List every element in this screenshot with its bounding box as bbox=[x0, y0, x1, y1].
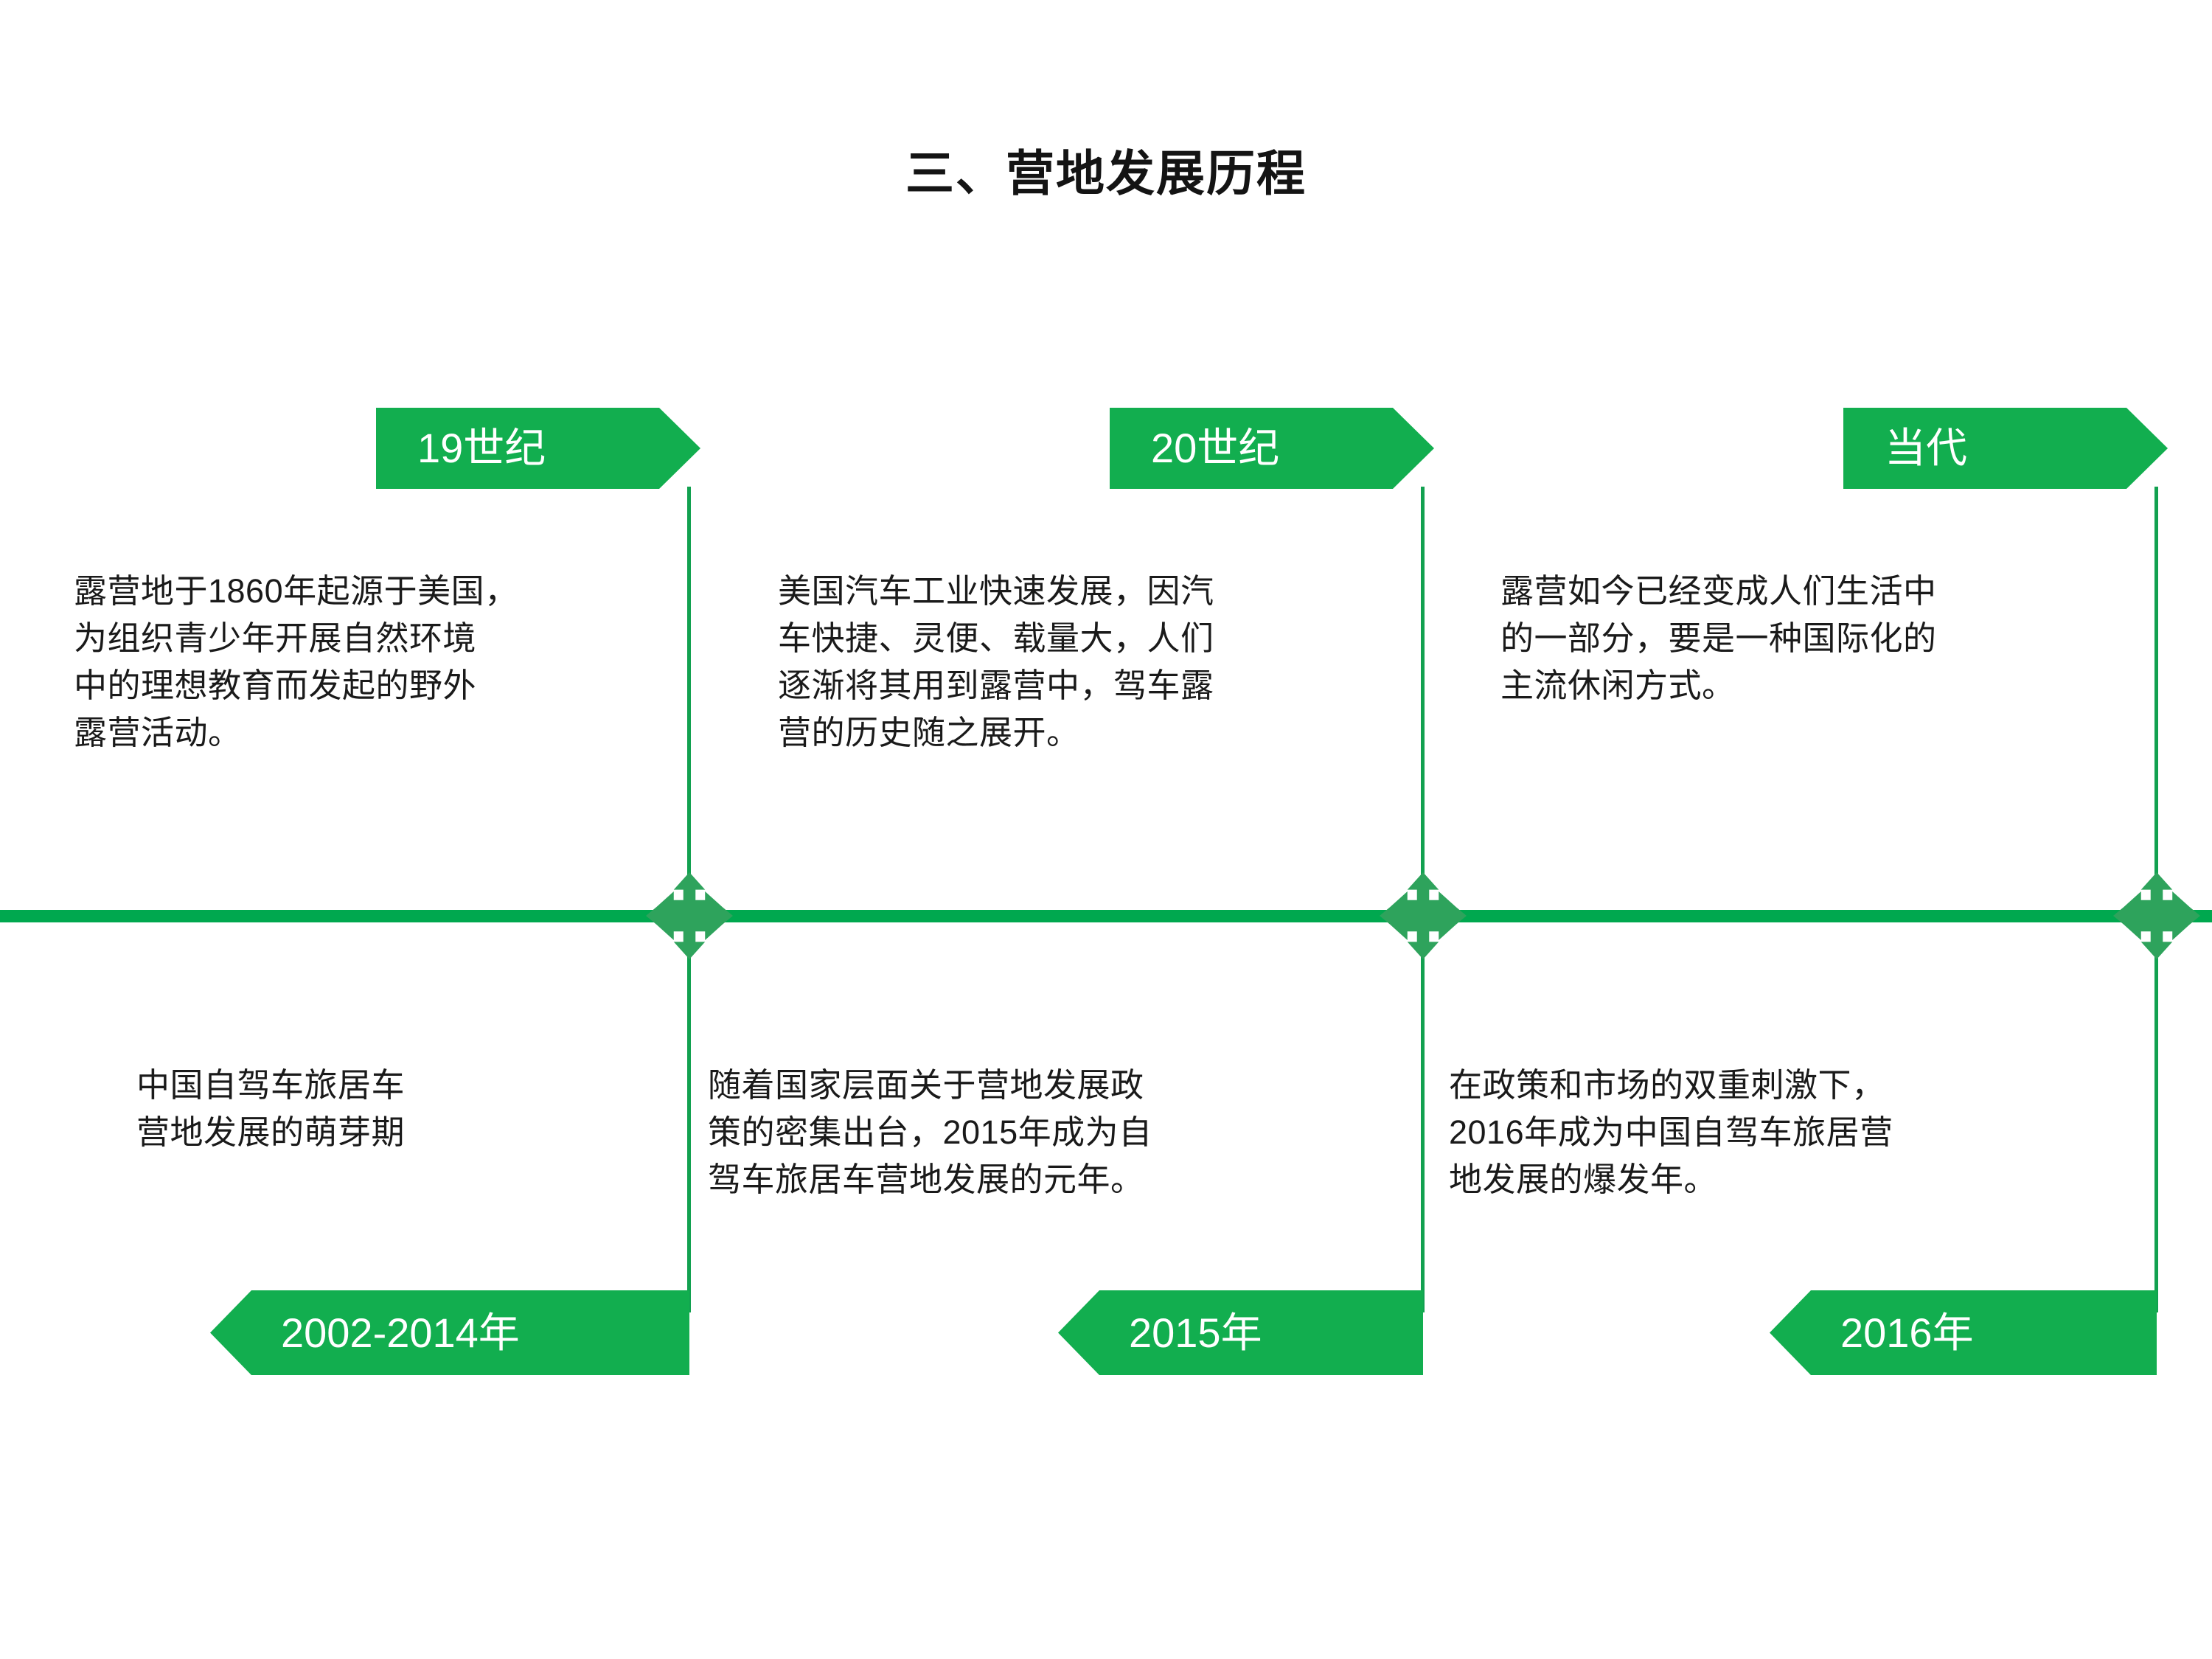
four-way-arrow-icon bbox=[2113, 872, 2200, 959]
connector-above-1 bbox=[687, 487, 691, 922]
connector-below-2 bbox=[1421, 914, 1425, 1312]
milestone-label-above-1[interactable]: 19世纪 bbox=[376, 408, 700, 489]
connector-below-3 bbox=[2154, 914, 2158, 1312]
milestone-label-below-1-text: 2002-2014年 bbox=[281, 1312, 520, 1354]
milestone-label-below-1[interactable]: 2002-2014年 bbox=[210, 1290, 689, 1375]
milestone-text-above-2: 美国汽车工业快速发展，因汽 车快捷、灵便、载量大，人们 逐渐将其用到露营中，驾车… bbox=[778, 568, 1427, 757]
milestone-text-below-2: 随着国家层面关于营地发展政 策的密集出台，2015年成为自 驾车旅居车营地发展的… bbox=[708, 1062, 1357, 1203]
milestone-text-above-1: 露营地于1860年起源于美国， 为组织青少年开展自然环境 中的理想教育而发起的野… bbox=[74, 568, 686, 757]
timeline-node-3[interactable] bbox=[2113, 872, 2200, 959]
milestone-label-below-3-text: 2016年 bbox=[1840, 1312, 1974, 1354]
milestone-label-above-1-text: 19世纪 bbox=[417, 428, 546, 469]
milestone-label-above-2[interactable]: 20世纪 bbox=[1110, 408, 1434, 489]
milestone-label-above-2-text: 20世纪 bbox=[1151, 428, 1279, 469]
milestone-label-below-3[interactable]: 2016年 bbox=[1770, 1290, 2157, 1375]
page-title: 三、营地发展历程 bbox=[0, 145, 2212, 203]
milestone-label-below-2[interactable]: 2015年 bbox=[1058, 1290, 1423, 1375]
timeline-axis bbox=[0, 910, 2212, 922]
milestone-text-above-3: 露营如今已经变成人们生活中 的一部分，要是一种国际化的 主流休闲方式。 bbox=[1500, 568, 2149, 709]
milestone-label-above-3-text: 当代 bbox=[1885, 428, 1967, 469]
timeline-node-2[interactable] bbox=[1380, 872, 1467, 959]
four-way-arrow-icon bbox=[1380, 872, 1467, 959]
milestone-label-below-2-text: 2015年 bbox=[1129, 1312, 1262, 1354]
four-way-arrow-icon bbox=[646, 872, 733, 959]
milestone-text-below-1: 中国自驾车旅居车 营地发展的萌芽期 bbox=[136, 1062, 697, 1156]
timeline-node-1[interactable] bbox=[646, 872, 733, 959]
milestone-label-above-3[interactable]: 当代 bbox=[1843, 408, 2168, 489]
connector-above-3 bbox=[2154, 487, 2158, 922]
milestone-text-below-3: 在政策和市场的双重刺激下， 2016年成为中国自驾车旅居营 地发展的爆发年。 bbox=[1449, 1062, 2112, 1203]
